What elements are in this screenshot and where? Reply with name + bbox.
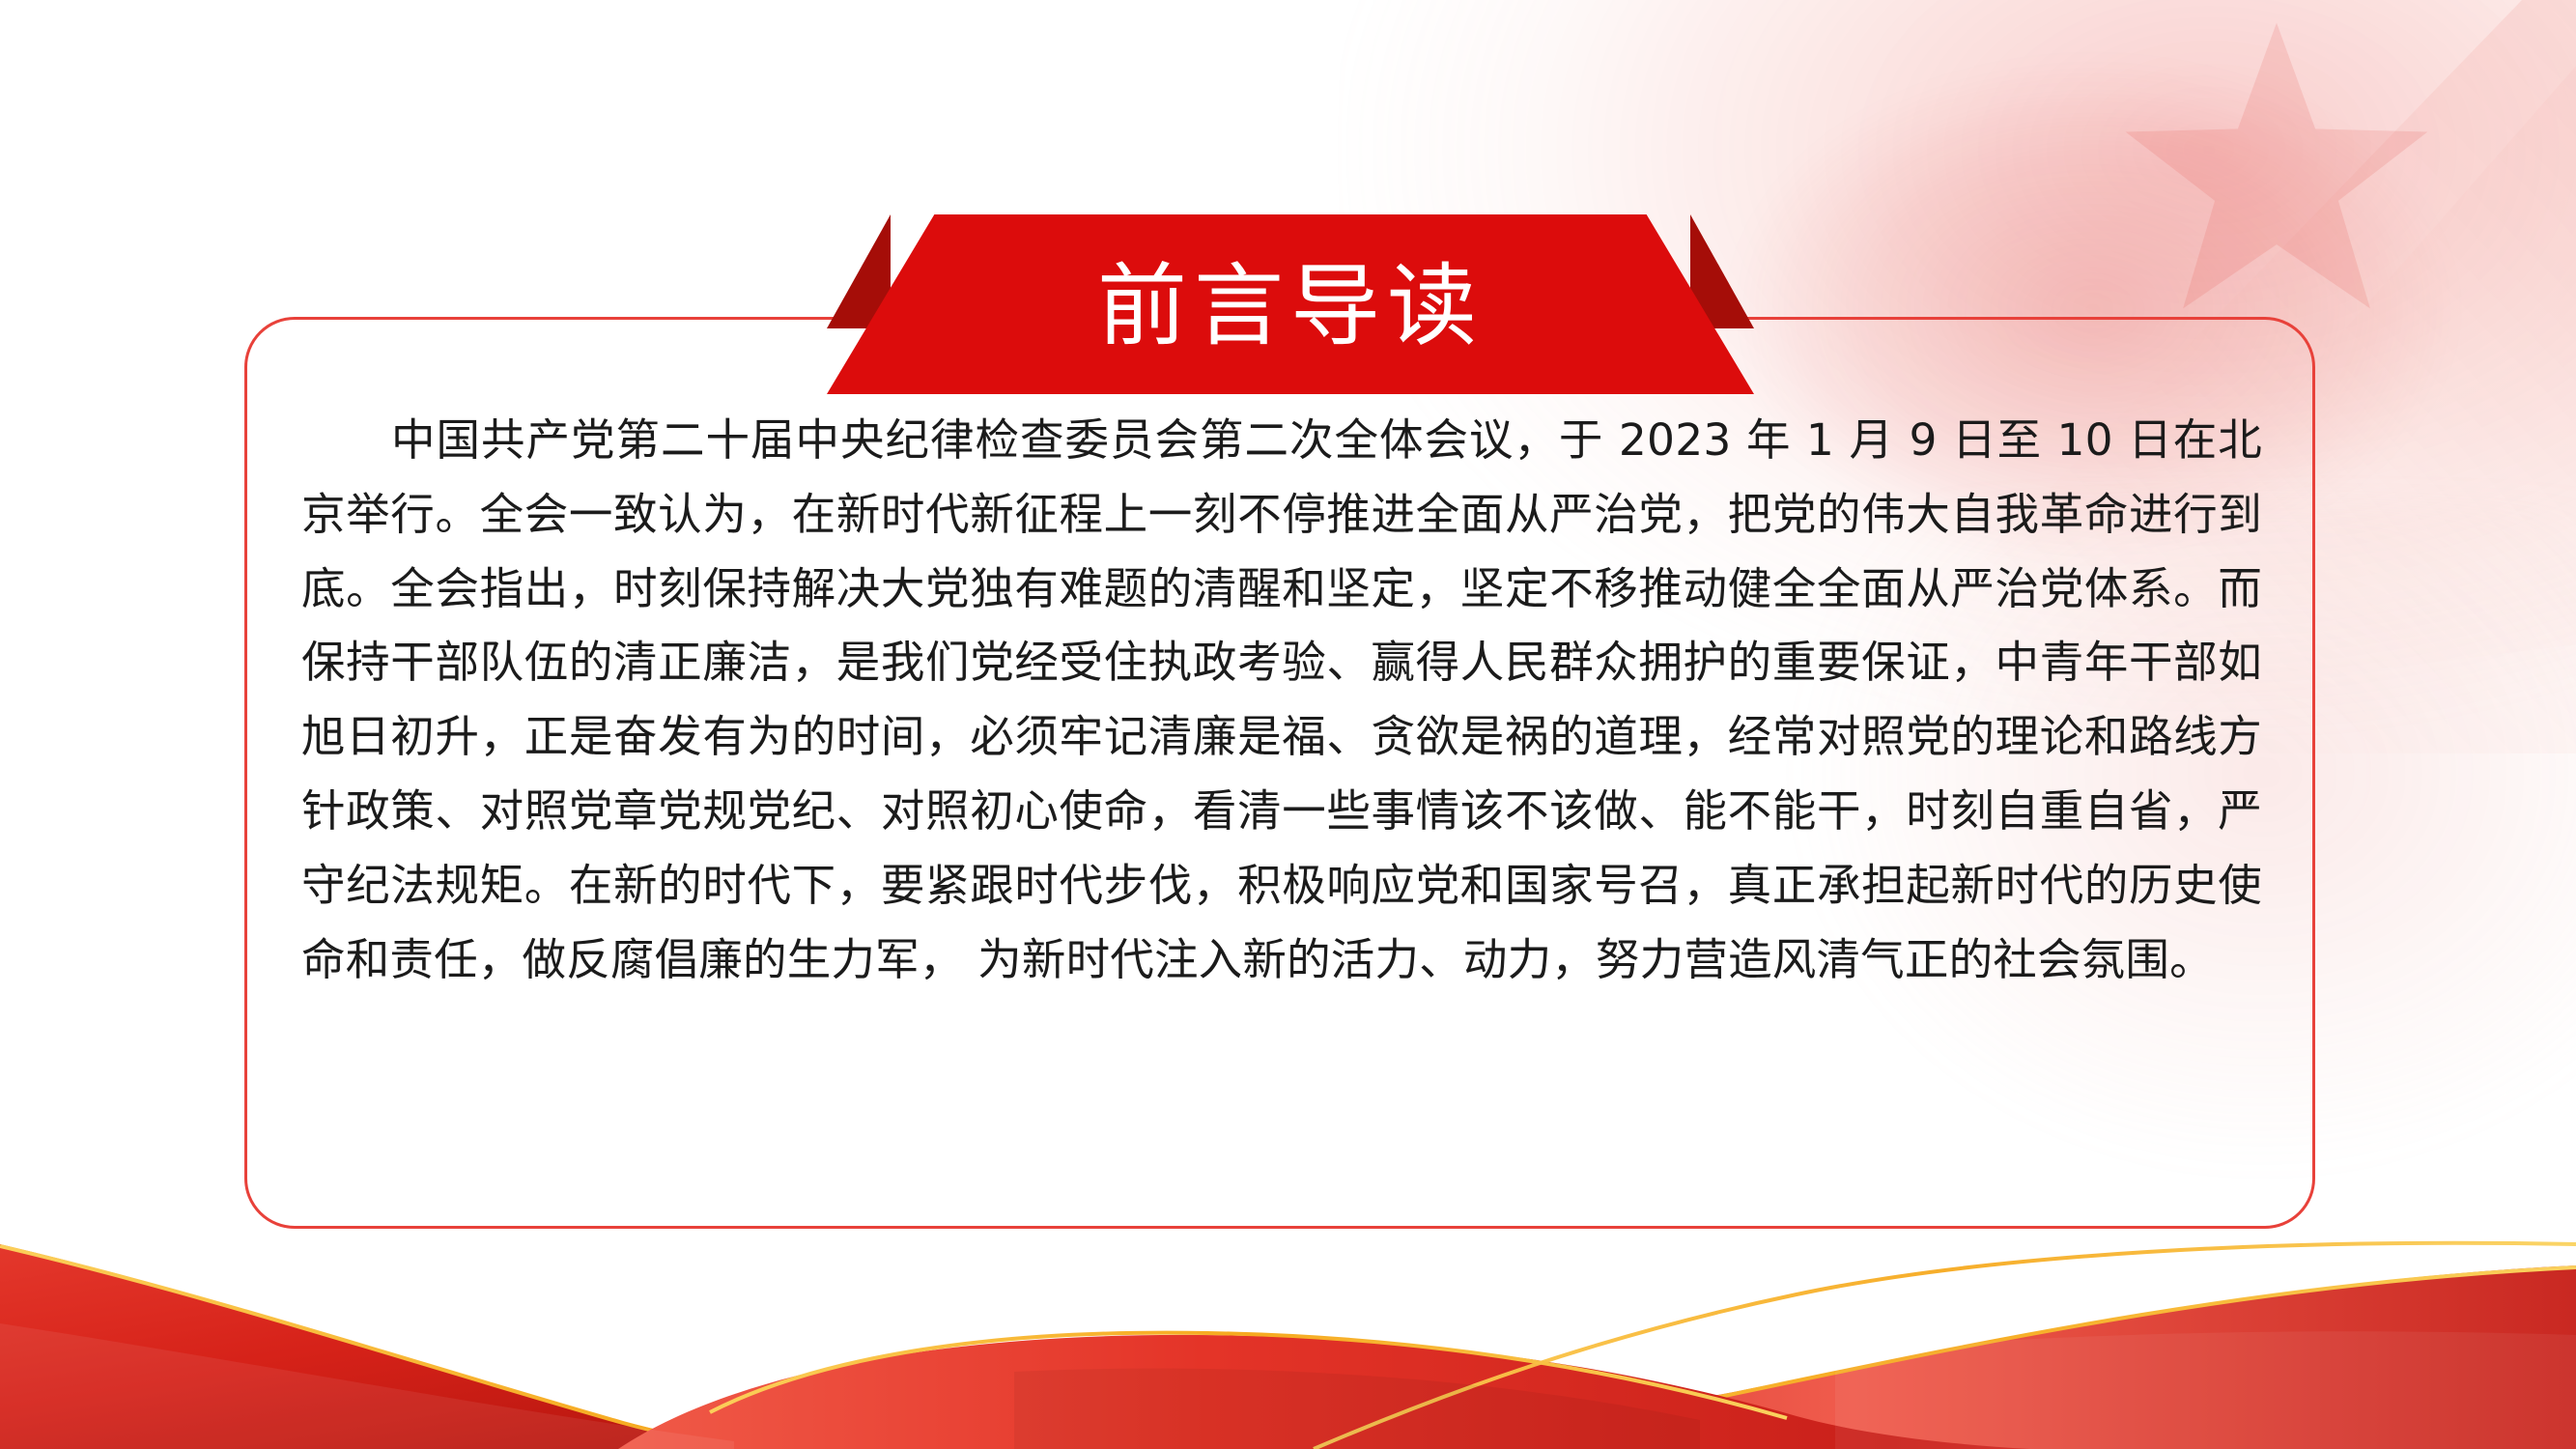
preface-paragraph: 中国共产党第二十届中央纪律检查委员会第二次全体会议，于 2023 年 1 月 9… — [301, 404, 2262, 997]
banner-body: 前言导读 — [827, 214, 1754, 394]
slide-canvas: 中国共产党第二十届中央纪律检查委员会第二次全体会议，于 2023 年 1 月 9… — [0, 0, 2576, 1449]
bottom-ribbon-decoration — [0, 1227, 2576, 1449]
star-watermark-icon — [2112, 10, 2441, 338]
title-banner: 前言导读 — [827, 214, 1754, 394]
page-title: 前言导读 — [1097, 262, 1484, 352]
